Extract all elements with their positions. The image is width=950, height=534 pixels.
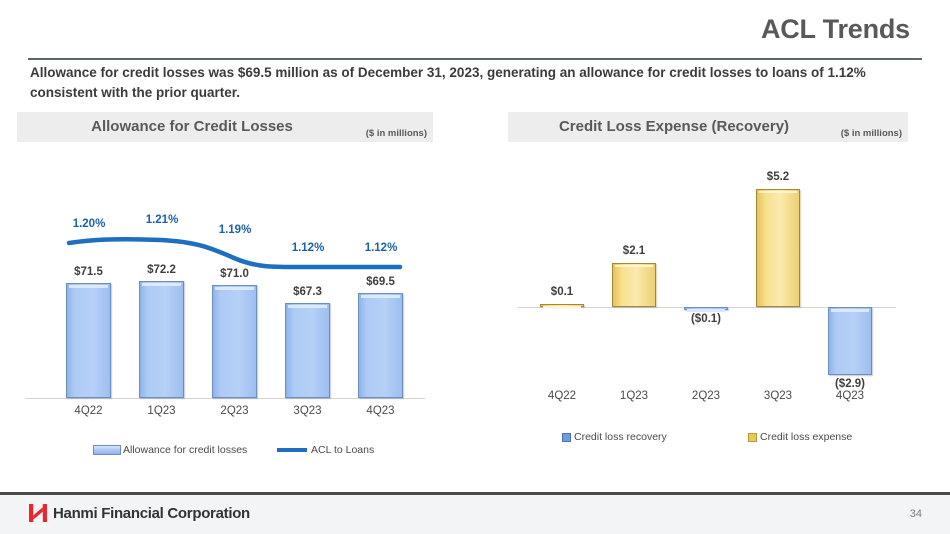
value-label-4q23: ($2.9) [822,378,878,390]
legend-swatch-acl-line [277,448,307,452]
legend-swatch-allowance-bar [93,445,121,455]
x-label-2q23: 2Q23 [212,405,257,417]
footer: Hanmi Financial Corporation 34 [0,495,950,534]
panel-header-right: Credit Loss Expense (Recovery) ($ in mil… [508,112,908,142]
panel-credit-loss-expense: Credit Loss Expense (Recovery) ($ in mil… [508,112,908,142]
right-x-label-4q23: 4Q23 [828,390,872,402]
legend-right-expense: Credit loss expense [748,431,852,443]
legend-left-acl-line: ACL to Loans [277,444,374,456]
right-x-label-4q22: 4Q22 [540,390,584,402]
legend-right-recovery: Credit loss recovery [562,431,667,443]
right-x-label-3q23: 3Q23 [756,390,800,402]
bar-expense-1q23 [612,263,656,307]
legend-label-credit-loss-expense: Credit loss expense [760,431,852,443]
chart-allowance-for-credit-losses: $71.5 $72.2 $71.0 $67.3 $69.5 1.20% 1.21… [17,150,433,430]
bar-expense-3q23 [756,189,800,307]
legend-label-acl-to-loans: ACL to Loans [311,444,374,456]
x-label-4q22: 4Q22 [66,405,111,417]
value-label-1q23: $2.1 [612,245,656,257]
right-x-label-1q23: 1Q23 [612,390,656,402]
value-label-3q23: $5.2 [756,171,800,183]
value-label-4q22: $0.1 [540,286,584,298]
x-label-1q23: 1Q23 [139,405,184,417]
bar-expense-4q22 [540,304,584,307]
line-label-1q23: 1.21% [132,214,192,226]
page-subtitle: Allowance for credit losses was $69.5 mi… [30,63,920,102]
value-label-2q23: ($0.1) [678,313,734,325]
company-logo: Hanmi Financial Corporation [28,503,250,523]
legend-left-allowance: Allowance for credit losses [93,444,247,456]
line-label-4q23: 1.12% [351,242,411,254]
legend-label-credit-loss-recovery: Credit loss recovery [574,431,667,443]
legend-swatch-credit-loss-recovery [562,433,571,442]
legend-label-allowance: Allowance for credit losses [123,444,247,456]
line-label-4q22: 1.20% [59,218,119,230]
line-label-3q23: 1.12% [278,242,338,254]
panel-left-units: ($ in millions) [366,128,427,139]
chart-credit-loss-expense-recovery: $0.1 $2.1 ($0.1) $5.2 ($2.9) 4Q22 1Q23 2… [508,150,908,410]
bar-recovery-2q23 [684,307,728,310]
x-label-3q23: 3Q23 [285,405,330,417]
bar-recovery-4q23 [828,307,872,375]
hanmi-logo-icon [28,503,48,523]
x-label-4q23: 4Q23 [358,405,403,417]
title-divider [28,58,922,60]
acl-to-loans-line [17,150,433,430]
legend-swatch-credit-loss-expense [748,433,757,442]
line-label-2q23: 1.19% [205,224,265,236]
page-number: 34 [910,508,922,520]
right-x-label-2q23: 2Q23 [684,390,728,402]
panel-right-units: ($ in millions) [841,128,902,139]
panel-allowance-for-credit-losses: Allowance for Credit Losses ($ in millio… [17,112,433,142]
page-title: ACL Trends [761,14,910,45]
panel-header-left: Allowance for Credit Losses ($ in millio… [17,112,433,142]
company-name: Hanmi Financial Corporation [53,505,250,522]
